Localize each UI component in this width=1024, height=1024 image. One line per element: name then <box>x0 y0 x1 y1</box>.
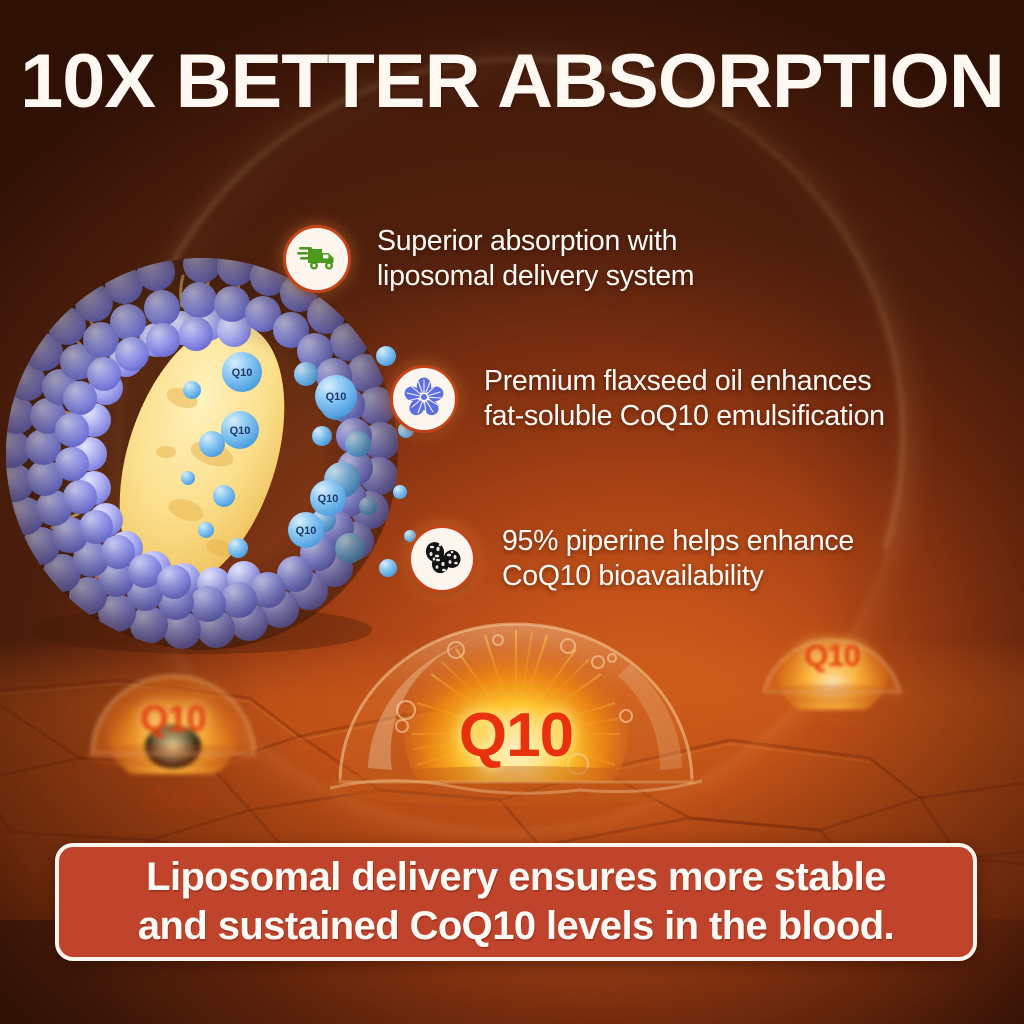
svg-text:Q10: Q10 <box>326 391 347 403</box>
delivery-truck-icon <box>297 243 337 276</box>
benefit-text-1-line2: liposomal delivery system <box>377 259 694 294</box>
q10-droplet-right: Q10 Q10 <box>752 612 912 710</box>
infographic-canvas: 10X BETTER ABSORPTION <box>0 0 1024 1024</box>
svg-text:Q10: Q10 <box>232 367 253 379</box>
q10-label-right: Q10 <box>752 638 912 674</box>
page-title: 10X BETTER ABSORPTION <box>0 42 1024 122</box>
benefit-text-3: 95% piperine helps enhance CoQ10 bioavai… <box>502 524 854 594</box>
benefit-item-superior-absorption[interactable]: Superior absorption with liposomal deliv… <box>283 224 694 294</box>
benefit-text-1: Superior absorption with liposomal deliv… <box>377 224 694 294</box>
benefit-badge-3 <box>408 525 476 593</box>
q10-droplet-left: Q10 Q10 <box>78 662 268 774</box>
banner-line-2: and sustained CoQ10 levels in the blood. <box>138 902 894 951</box>
benefit-text-3-line2: CoQ10 bioavailability <box>502 559 854 594</box>
benefit-text-2: Premium flaxseed oil enhances fat-solubl… <box>484 364 885 434</box>
q10-label-center: Q10 <box>330 700 702 771</box>
bottom-claim-banner: Liposomal delivery ensures more stable a… <box>55 843 977 961</box>
benefit-text-2-line1: Premium flaxseed oil enhances <box>484 364 885 399</box>
q10-label-left: Q10 <box>78 698 268 740</box>
svg-text:Q10: Q10 <box>296 525 317 537</box>
banner-line-1: Liposomal delivery ensures more stable <box>146 853 886 902</box>
benefit-text-2-line2: fat-soluble CoQ10 emulsification <box>484 399 885 434</box>
benefit-text-1-line1: Superior absorption with <box>377 224 694 259</box>
benefit-badge-2 <box>390 365 458 433</box>
peppercorns-icon <box>422 540 462 579</box>
q10-reflection-right: Q10 <box>752 721 912 748</box>
flax-flower-icon <box>404 377 444 422</box>
benefit-item-piperine[interactable]: 95% piperine helps enhance CoQ10 bioavai… <box>408 524 854 594</box>
q10-droplet-center: Q10 <box>330 618 702 814</box>
svg-text:Q10: Q10 <box>318 493 339 505</box>
benefit-text-3-line1: 95% piperine helps enhance <box>502 524 854 559</box>
svg-text:Q10: Q10 <box>230 425 251 437</box>
benefit-item-flaxseed-oil[interactable]: Premium flaxseed oil enhances fat-solubl… <box>390 364 885 434</box>
q10-reflection-left: Q10 <box>78 785 268 814</box>
benefit-badge-1 <box>283 225 351 293</box>
liposome-cutaway-illustration: Q10 Q10 Q10 Q10 Q10 <box>6 248 426 660</box>
